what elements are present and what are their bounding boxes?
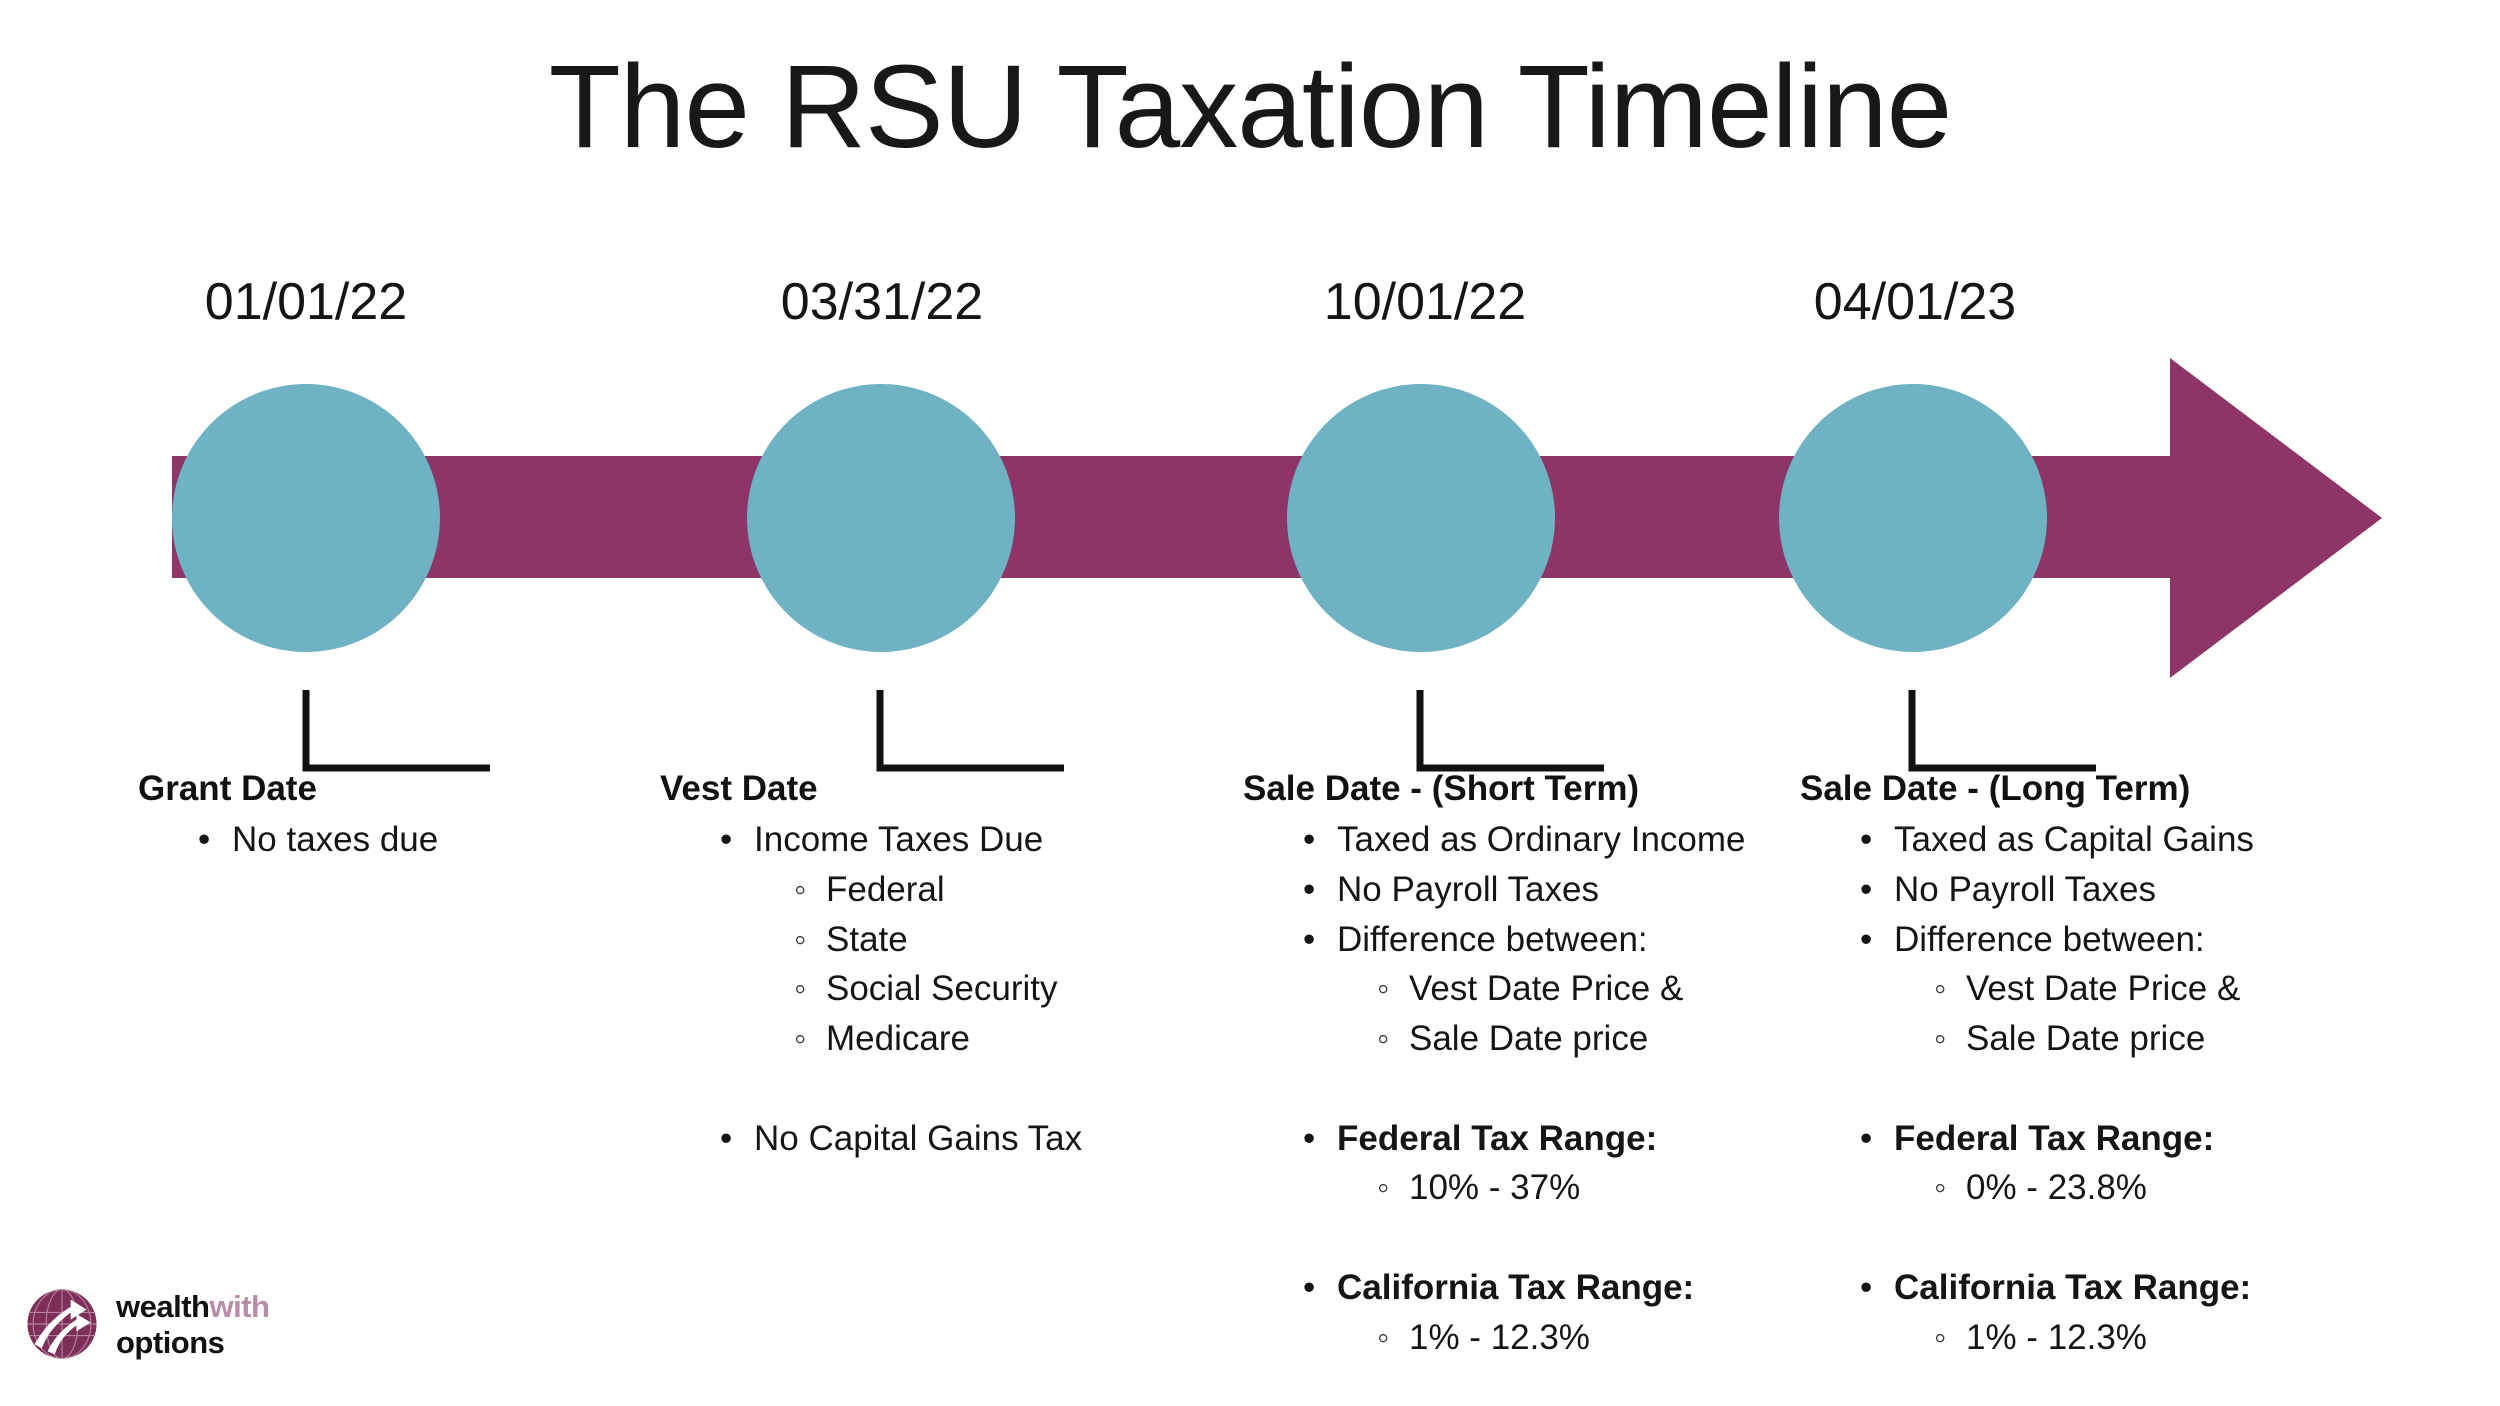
sub-bullet-item: ◦Social Security (792, 964, 1082, 1014)
sub-bullet-item: ◦0% - 23.8% (1932, 1163, 2254, 1213)
sub-bullet-marker-icon: ◦ (1377, 1014, 1389, 1064)
timeline-node-4[interactable] (1779, 384, 2047, 652)
bullet-marker-icon: • (1860, 915, 1872, 965)
leader-line-1 (306, 690, 490, 768)
sub-bullet-text: 1% - 12.3% (1966, 1318, 2147, 1357)
bullet-text: No taxes due (232, 820, 438, 859)
bullet-marker-icon: • (1860, 865, 1872, 915)
bullet-text: Income Taxes Due (754, 820, 1043, 859)
bullet-spacer (1303, 1213, 1746, 1263)
date-label-4: 04/01/23 (1705, 272, 2125, 332)
milestone-column-sale-long-term: Sale Date - (Long Term) •Taxed as Capita… (1800, 768, 2254, 1362)
timeline-node-1[interactable] (172, 384, 440, 652)
sub-bullet-text: Federal (826, 870, 945, 909)
bullet-item: •California Tax Range:◦1% - 12.3% (1860, 1263, 2254, 1362)
slide-canvas: The RSU Taxation Timeline 01/01/22 03/31… (0, 0, 2500, 1406)
column-heading: Grant Date (138, 768, 438, 809)
sub-bullet-item: ◦State (792, 915, 1082, 965)
sub-bullet-marker-icon: ◦ (1377, 964, 1389, 1014)
date-label-3: 10/01/22 (1215, 272, 1635, 332)
sub-bullet-list: ◦1% - 12.3% (1894, 1313, 2254, 1363)
column-bullet-list: •Income Taxes Due◦Federal◦State◦Social S… (660, 815, 1082, 1163)
column-heading: Sale Date - (Short Term) (1243, 768, 1746, 809)
sub-bullet-list: ◦0% - 23.8% (1894, 1163, 2254, 1213)
bullet-marker-icon: • (1303, 815, 1315, 865)
sub-bullet-text: Vest Date Price & (1966, 969, 2240, 1008)
bullet-marker-icon: • (1303, 1263, 1315, 1313)
sub-bullet-list: ◦Federal◦State◦Social Security◦Medicare (754, 865, 1082, 1064)
bullet-text: No Capital Gains Tax (754, 1119, 1082, 1158)
bullet-marker-icon: • (198, 815, 210, 865)
sub-bullet-marker-icon: ◦ (1377, 1163, 1389, 1213)
leader-line-3 (1420, 690, 1604, 768)
sub-bullet-text: Sale Date price (1966, 1019, 2205, 1058)
column-heading: Vest Date (660, 768, 1082, 809)
bullet-marker-icon: • (1860, 1114, 1872, 1164)
sub-bullet-marker-icon: ◦ (1934, 1014, 1946, 1064)
sub-bullet-item: ◦Vest Date Price & (1932, 964, 2254, 1014)
sub-bullet-list: ◦10% - 37% (1337, 1163, 1746, 1213)
bullet-text: Difference between: (1337, 920, 1648, 959)
column-bullet-list: •Taxed as Ordinary Income•No Payroll Tax… (1243, 815, 1746, 1362)
bullet-marker-icon: • (1860, 1263, 1872, 1313)
sub-bullet-item: ◦Vest Date Price & (1375, 964, 1746, 1014)
bullet-text: No Payroll Taxes (1337, 870, 1599, 909)
sub-bullet-text: Social Security (826, 969, 1057, 1008)
timeline-arrow (172, 358, 2382, 678)
sub-bullet-text: 10% - 37% (1409, 1168, 1580, 1207)
sub-bullet-text: 1% - 12.3% (1409, 1318, 1590, 1357)
sub-bullet-item: ◦Federal (792, 865, 1082, 915)
date-label-2: 03/31/22 (672, 272, 1092, 332)
milestone-column-vest-date: Vest Date •Income Taxes Due◦Federal◦Stat… (660, 768, 1082, 1163)
sub-bullet-text: Sale Date price (1409, 1019, 1648, 1058)
brand-logo[interactable]: wealthwith options (26, 1288, 269, 1360)
bullet-spacer (1860, 1064, 2254, 1114)
sub-bullet-list: ◦Vest Date Price &◦Sale Date price (1337, 964, 1746, 1063)
bullet-item: •California Tax Range:◦1% - 12.3% (1303, 1263, 1746, 1362)
sub-bullet-item: ◦Sale Date price (1932, 1014, 2254, 1064)
sub-bullet-marker-icon: ◦ (794, 915, 806, 965)
bullet-text: Difference between: (1894, 920, 2205, 959)
bullet-item: •Difference between:◦Vest Date Price &◦S… (1303, 915, 1746, 1064)
logo-wordmark: wealthwith options (116, 1291, 269, 1358)
bullet-item: •Federal Tax Range:◦0% - 23.8% (1860, 1114, 2254, 1213)
sub-bullet-item: ◦1% - 12.3% (1932, 1313, 2254, 1363)
bullet-item: •Federal Tax Range:◦10% - 37% (1303, 1114, 1746, 1213)
bullet-spacer (1860, 1213, 2254, 1263)
sub-bullet-marker-icon: ◦ (1934, 1163, 1946, 1213)
sub-bullet-marker-icon: ◦ (794, 1014, 806, 1064)
bullet-marker-icon: • (720, 1114, 732, 1164)
bullet-marker-icon: • (1303, 1114, 1315, 1164)
bullet-item: •Income Taxes Due◦Federal◦State◦Social S… (720, 815, 1082, 1063)
sub-bullet-marker-icon: ◦ (1377, 1313, 1389, 1363)
timeline-node-3[interactable] (1287, 384, 1555, 652)
sub-bullet-item: ◦Sale Date price (1375, 1014, 1746, 1064)
sub-bullet-marker-icon: ◦ (1934, 964, 1946, 1014)
bullet-marker-icon: • (720, 815, 732, 865)
milestone-column-grant-date: Grant Date •No taxes due (138, 768, 438, 865)
globe-arrows-icon (26, 1288, 98, 1360)
bullet-item: •Difference between:◦Vest Date Price &◦S… (1860, 915, 2254, 1064)
leader-line-2 (880, 690, 1064, 768)
bullet-item: •Taxed as Ordinary Income (1303, 815, 1746, 865)
sub-bullet-item: ◦Medicare (792, 1014, 1082, 1064)
bullet-text: No Payroll Taxes (1894, 870, 2156, 909)
bullet-text: California Tax Range: (1337, 1268, 1694, 1307)
leader-line-4 (1912, 690, 2096, 768)
sub-bullet-marker-icon: ◦ (794, 865, 806, 915)
logo-word-options: options (116, 1325, 224, 1360)
bullet-item: •No Capital Gains Tax (720, 1114, 1082, 1164)
page-title: The RSU Taxation Timeline (0, 38, 2500, 177)
bullet-item: •Taxed as Capital Gains (1860, 815, 2254, 865)
bullet-marker-icon: • (1303, 915, 1315, 965)
sub-bullet-marker-icon: ◦ (1934, 1313, 1946, 1363)
sub-bullet-text: Medicare (826, 1019, 970, 1058)
sub-bullet-item: ◦1% - 12.3% (1375, 1313, 1746, 1363)
logo-word-with: with (209, 1289, 269, 1324)
date-label-1: 01/01/22 (96, 272, 516, 332)
bullet-item: •No Payroll Taxes (1303, 865, 1746, 915)
sub-bullet-marker-icon: ◦ (794, 964, 806, 1014)
bullet-text: Federal Tax Range: (1337, 1119, 1657, 1158)
bullet-item: •No Payroll Taxes (1860, 865, 2254, 915)
column-bullet-list: •Taxed as Capital Gains•No Payroll Taxes… (1800, 815, 2254, 1362)
milestone-column-sale-short-term: Sale Date - (Short Term) •Taxed as Ordin… (1243, 768, 1746, 1362)
sub-bullet-text: State (826, 920, 908, 959)
column-bullet-list: •No taxes due (138, 815, 438, 865)
sub-bullet-text: 0% - 23.8% (1966, 1168, 2147, 1207)
sub-bullet-text: Vest Date Price & (1409, 969, 1683, 1008)
column-heading: Sale Date - (Long Term) (1800, 768, 2254, 809)
timeline-node-2[interactable] (747, 384, 1015, 652)
bullet-text: Taxed as Ordinary Income (1337, 820, 1746, 859)
bullet-marker-icon: • (1303, 865, 1315, 915)
sub-bullet-list: ◦Vest Date Price &◦Sale Date price (1894, 964, 2254, 1063)
logo-word-wealth: wealth (116, 1289, 209, 1324)
bullet-text: Federal Tax Range: (1894, 1119, 2214, 1158)
bullet-text: Taxed as Capital Gains (1894, 820, 2254, 859)
bullet-text: California Tax Range: (1894, 1268, 2251, 1307)
bullet-spacer (720, 1064, 1082, 1114)
sub-bullet-list: ◦1% - 12.3% (1337, 1313, 1746, 1363)
bullet-spacer (1303, 1064, 1746, 1114)
bullet-item: •No taxes due (198, 815, 438, 865)
bullet-marker-icon: • (1860, 815, 1872, 865)
sub-bullet-item: ◦10% - 37% (1375, 1163, 1746, 1213)
